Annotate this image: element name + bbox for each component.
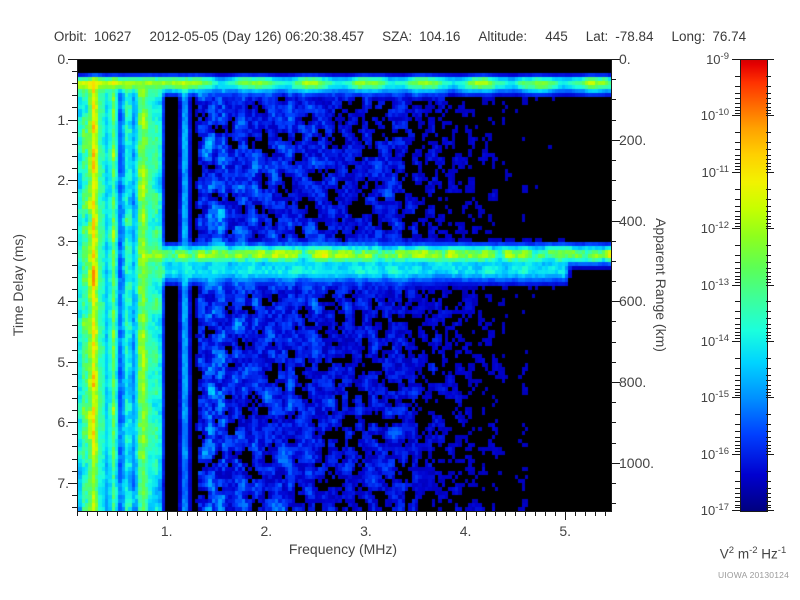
time-delay-minor-tick (72, 168, 77, 169)
colorbar-tick-exponent: -15 (715, 389, 729, 400)
time-delay-minor-tick (72, 374, 77, 375)
colorbar-minor-tick (766, 424, 771, 425)
datetime-value: 2012-05-05 (Day 126) 06:20:38.457 (149, 29, 364, 44)
colorbar-tick-mantissa: 10 (706, 52, 720, 67)
colorbar-minor-tick (735, 255, 740, 256)
time-delay-axis-title: Time Delay (ms) (10, 234, 26, 336)
colorbar-major-tick (732, 510, 740, 511)
colorbar-minor-tick (766, 493, 771, 494)
apparent-range-axis-title: Apparent Range (km) (653, 218, 669, 352)
colorbar-minor-tick (766, 189, 771, 190)
time-delay-minor-tick (72, 204, 77, 205)
colorbar-minor-tick (735, 441, 740, 442)
colorbar-minor-tick (766, 110, 771, 111)
colorbar-minor-tick (735, 451, 740, 452)
colorbar-minor-tick (766, 142, 771, 143)
sza-label: SZA: (382, 29, 412, 44)
colorbar-minor-tick (766, 392, 771, 393)
colorbar-minor-tick (766, 166, 771, 167)
colorbar-minor-tick (766, 262, 771, 263)
time-delay-tick-label: 6. (57, 414, 69, 430)
colorbar-tick-label: 10-11 (702, 164, 730, 180)
colorbar-minor-tick (735, 493, 740, 494)
frequency-minor-tick (137, 511, 138, 516)
colorbar-minor-tick (735, 149, 740, 150)
time-delay-minor-tick (72, 156, 77, 157)
colorbar-minor-tick (735, 445, 740, 446)
time-delay-minor-tick (72, 459, 77, 460)
colorbar-minor-tick (735, 324, 740, 325)
time-delay-minor-tick (72, 277, 77, 278)
colorbar-minor-tick (735, 392, 740, 393)
time-delay-minor-tick (72, 132, 77, 133)
frequency-minor-tick (207, 511, 208, 516)
colorbar-minor-tick (735, 311, 740, 312)
colorbar-minor-tick (735, 471, 740, 472)
colorbar-minor-tick (766, 132, 771, 133)
time-delay-minor-tick (72, 350, 77, 351)
colorbar-minor-tick (766, 385, 771, 386)
colorbar-minor-tick (766, 169, 771, 170)
apparent-range-minor-tick (611, 281, 616, 282)
colorbar-minor-tick (766, 328, 771, 329)
frequency-minor-tick (147, 511, 148, 516)
lat-value: -78.84 (615, 29, 653, 44)
colorbar-minor-tick (766, 431, 771, 432)
colorbar-minor-tick (735, 211, 740, 212)
frequency-minor-tick (485, 511, 486, 516)
colorbar-minor-tick (735, 375, 740, 376)
intensity-colorbar (740, 59, 768, 512)
colorbar-minor-tick (766, 389, 771, 390)
colorbar-tick-mantissa: 10 (701, 278, 715, 293)
colorbar-major-tick (732, 115, 740, 116)
colorbar-minor-tick (766, 98, 771, 99)
colorbar-minor-tick (766, 445, 771, 446)
colorbar-minor-tick (735, 332, 740, 333)
colorbar-minor-tick (735, 199, 740, 200)
time-delay-major-tick (68, 59, 77, 60)
colorbar-minor-tick (735, 505, 740, 506)
colorbar-minor-tick (766, 226, 771, 227)
apparent-range-minor-tick (611, 79, 616, 80)
colorbar-tick-label: 10-12 (701, 220, 729, 236)
colorbar-minor-tick (735, 481, 740, 482)
colorbar-minor-tick (735, 132, 740, 133)
time-delay-minor-tick (72, 229, 77, 230)
colorbar-tick-label: 10-9 (706, 51, 729, 67)
time-delay-minor-tick (72, 192, 77, 193)
frequency-minor-tick (515, 511, 516, 516)
frequency-minor-tick (77, 511, 78, 516)
frequency-minor-tick (177, 511, 178, 516)
colorbar-minor-tick (735, 216, 740, 217)
colorbar-tick-mantissa: 10 (701, 109, 715, 124)
orbit-label: Orbit: (54, 29, 87, 44)
colorbar-tick-exponent: -17 (715, 502, 729, 513)
time-delay-tick-label: 2. (57, 172, 69, 188)
colorbar-tick-label: 10-10 (701, 107, 729, 123)
colorbar-minor-tick (766, 149, 771, 150)
frequency-minor-tick (236, 511, 237, 516)
colorbar-minor-tick (766, 76, 771, 77)
time-delay-minor-tick (72, 95, 77, 96)
colorbar-minor-tick (735, 159, 740, 160)
altitude-value: 445 (545, 29, 568, 44)
frequency-minor-tick (476, 511, 477, 516)
colorbar-minor-tick (766, 103, 771, 104)
colorbar-major-tick (732, 285, 740, 286)
colorbar-minor-tick (766, 318, 771, 319)
frequency-tick-label: 1. (161, 523, 173, 539)
frequency-minor-tick (246, 511, 247, 516)
colorbar-minor-tick (735, 414, 740, 415)
colorbar-tick-exponent: -11 (716, 164, 729, 175)
frequency-major-tick (466, 511, 467, 520)
colorbar-minor-tick (766, 395, 771, 396)
colorbar-minor-tick (735, 166, 740, 167)
colorbar-unit-label: V2 m-2 Hz-1 (720, 545, 786, 562)
frequency-minor-tick (406, 511, 407, 516)
colorbar-minor-tick (735, 189, 740, 190)
colorbar-minor-tick (735, 358, 740, 359)
colorbar-minor-tick (735, 93, 740, 94)
colorbar-minor-tick (735, 142, 740, 143)
frequency-minor-tick (545, 511, 546, 516)
colorbar-major-tick (766, 228, 774, 229)
apparent-range-minor-tick (611, 483, 616, 484)
time-delay-minor-tick (72, 313, 77, 314)
colorbar-tick-label: 10-17 (701, 502, 729, 518)
frequency-minor-tick (117, 511, 118, 516)
colorbar-minor-tick (766, 437, 771, 438)
ionogram-figure: Orbit:106272012-05-05 (Day 126) 06:20:38… (0, 0, 800, 600)
frequency-minor-tick (286, 511, 287, 516)
frequency-major-tick (565, 511, 566, 520)
frequency-minor-tick (157, 511, 158, 516)
colorbar-minor-tick (766, 113, 771, 114)
colorbar-minor-tick (766, 223, 771, 224)
time-delay-minor-tick (72, 410, 77, 411)
frequency-minor-tick (555, 511, 556, 516)
colorbar-minor-tick (766, 206, 771, 207)
colorbar-minor-tick (735, 98, 740, 99)
colorbar-tick-label: 10-15 (701, 389, 729, 405)
colorbar-minor-tick (735, 437, 740, 438)
frequency-minor-tick (356, 511, 357, 516)
colorbar-tick-mantissa: 10 (701, 390, 715, 405)
colorbar-major-tick (766, 454, 774, 455)
time-delay-minor-tick (72, 265, 77, 266)
colorbar-minor-tick (735, 488, 740, 489)
colorbar-minor-tick (766, 441, 771, 442)
colorbar-tick-exponent: -12 (715, 220, 729, 231)
orbit-value: 10627 (94, 29, 132, 44)
time-delay-tick-label: 4. (57, 293, 69, 309)
time-delay-major-tick (68, 483, 77, 484)
colorbar-minor-tick (766, 199, 771, 200)
time-delay-tick-label: 1. (57, 112, 69, 128)
colorbar-major-tick (732, 59, 740, 60)
apparent-range-tick-label: 200. (619, 132, 646, 148)
long-value: 76.74 (712, 29, 746, 44)
altitude-label: Altitude: (478, 29, 527, 44)
institution-watermark: UIOWA 20130124 (718, 570, 789, 580)
colorbar-minor-tick (735, 272, 740, 273)
colorbar-minor-tick (766, 219, 771, 220)
colorbar-major-tick (732, 397, 740, 398)
time-delay-tick-label: 0. (57, 51, 69, 67)
frequency-minor-tick (107, 511, 108, 516)
time-delay-minor-tick (72, 495, 77, 496)
sza-value: 104.16 (419, 29, 460, 44)
colorbar-tick-exponent: -9 (721, 51, 729, 62)
colorbar-minor-tick (766, 282, 771, 283)
time-delay-major-tick (68, 301, 77, 302)
frequency-minor-tick (296, 511, 297, 516)
colorbar-tick-mantissa: 10 (701, 221, 715, 236)
colorbar-minor-tick (766, 375, 771, 376)
colorbar-tick-exponent: -10 (715, 107, 729, 118)
colorbar-major-tick (766, 59, 774, 60)
colorbar-minor-tick (766, 272, 771, 273)
time-delay-major-tick (68, 362, 77, 363)
colorbar-minor-tick (735, 76, 740, 77)
colorbar-minor-tick (735, 103, 740, 104)
colorbar-minor-tick (766, 107, 771, 108)
time-delay-major-tick (68, 422, 77, 423)
frequency-minor-tick (376, 511, 377, 516)
ionogram-heatmap-canvas (78, 60, 611, 511)
colorbar-major-tick (766, 397, 774, 398)
frequency-minor-tick (226, 511, 227, 516)
apparent-range-tick-label: 400. (619, 213, 646, 229)
time-delay-tick-label: 5. (57, 354, 69, 370)
colorbar-minor-tick (735, 155, 740, 156)
frequency-minor-tick (525, 511, 526, 516)
colorbar-minor-tick (766, 507, 771, 508)
frequency-minor-tick (535, 511, 536, 516)
colorbar-minor-tick (766, 245, 771, 246)
frequency-minor-tick (127, 511, 128, 516)
frequency-minor-tick (416, 511, 417, 516)
colorbar-minor-tick (766, 451, 771, 452)
apparent-range-tick-label: 800. (619, 374, 646, 390)
colorbar-minor-tick (766, 335, 771, 336)
colorbar-minor-tick (735, 385, 740, 386)
colorbar-major-tick (732, 341, 740, 342)
colorbar-minor-tick (735, 219, 740, 220)
time-delay-minor-tick (72, 434, 77, 435)
frequency-minor-tick (316, 511, 317, 516)
colorbar-minor-tick (735, 279, 740, 280)
frequency-minor-tick (446, 511, 447, 516)
colorbar-minor-tick (766, 268, 771, 269)
colorbar-minor-tick (735, 380, 740, 381)
colorbar-minor-tick (735, 497, 740, 498)
colorbar-minor-tick (766, 505, 771, 506)
colorbar-minor-tick (735, 338, 740, 339)
colorbar-minor-tick (735, 328, 740, 329)
colorbar-minor-tick (735, 389, 740, 390)
frequency-minor-tick (505, 511, 506, 516)
colorbar-minor-tick (766, 279, 771, 280)
frequency-minor-tick (97, 511, 98, 516)
time-delay-minor-tick (72, 253, 77, 254)
frequency-minor-tick (326, 511, 327, 516)
colorbar-tick-mantissa: 10 (702, 165, 716, 180)
colorbar-minor-tick (735, 507, 740, 508)
colorbar-minor-tick (766, 311, 771, 312)
time-delay-minor-tick (72, 471, 77, 472)
colorbar-minor-tick (766, 155, 771, 156)
apparent-range-minor-tick (611, 261, 616, 262)
colorbar-minor-tick (735, 110, 740, 111)
apparent-range-minor-tick (611, 200, 616, 201)
colorbar-minor-tick (735, 268, 740, 269)
colorbar-minor-tick (766, 255, 771, 256)
colorbar-tick-label: 10-13 (701, 276, 729, 292)
colorbar-minor-tick (735, 262, 740, 263)
colorbar-minor-tick (766, 380, 771, 381)
colorbar-major-tick (766, 172, 774, 173)
time-delay-tick-label: 3. (57, 233, 69, 249)
frequency-minor-tick (456, 511, 457, 516)
colorbar-minor-tick (766, 448, 771, 449)
colorbar-minor-tick (735, 335, 740, 336)
colorbar-minor-tick (766, 324, 771, 325)
time-delay-minor-tick (72, 337, 77, 338)
colorbar-tick-mantissa: 10 (701, 334, 715, 349)
frequency-minor-tick (495, 511, 496, 516)
frequency-major-tick (366, 511, 367, 520)
colorbar-minor-tick (735, 276, 740, 277)
frequency-minor-tick (436, 511, 437, 516)
time-delay-minor-tick (72, 325, 77, 326)
colorbar-minor-tick (735, 448, 740, 449)
time-delay-tick-label: 7. (57, 475, 69, 491)
colorbar-minor-tick (735, 169, 740, 170)
frequency-minor-tick (87, 511, 88, 516)
colorbar-minor-tick (766, 211, 771, 212)
colorbar-minor-tick (735, 86, 740, 87)
colorbar-tick-mantissa: 10 (701, 503, 715, 518)
apparent-range-minor-tick (611, 120, 616, 121)
time-delay-minor-tick (72, 507, 77, 508)
frequency-tick-label: 5. (559, 523, 571, 539)
colorbar-minor-tick (735, 113, 740, 114)
colorbar-minor-tick (735, 245, 740, 246)
colorbar-tick-mantissa: 10 (701, 447, 715, 462)
colorbar-minor-tick (766, 163, 771, 164)
apparent-range-minor-tick (611, 180, 616, 181)
frequency-minor-tick (336, 511, 337, 516)
colorbar-minor-tick (766, 338, 771, 339)
colorbar-minor-tick (735, 318, 740, 319)
frequency-minor-tick (605, 511, 606, 516)
colorbar-minor-tick (766, 358, 771, 359)
frequency-minor-tick (256, 511, 257, 516)
colorbar-major-tick (732, 454, 740, 455)
colorbar-minor-tick (766, 368, 771, 369)
frequency-minor-tick (216, 511, 217, 516)
frequency-minor-tick (306, 511, 307, 516)
colorbar-minor-tick (735, 226, 740, 227)
figure-header: Orbit:106272012-05-05 (Day 126) 06:20:38… (0, 29, 800, 44)
frequency-minor-tick (396, 511, 397, 516)
frequency-minor-tick (575, 511, 576, 516)
frequency-minor-tick (197, 511, 198, 516)
colorbar-minor-tick (766, 159, 771, 160)
ionogram-plot-area (77, 59, 612, 512)
time-delay-major-tick (68, 120, 77, 121)
frequency-minor-tick (346, 511, 347, 516)
apparent-range-minor-tick (611, 362, 616, 363)
colorbar-minor-tick (735, 424, 740, 425)
colorbar-minor-tick (735, 395, 740, 396)
colorbar-minor-tick (735, 431, 740, 432)
frequency-axis-title: Frequency (MHz) (289, 541, 397, 557)
frequency-minor-tick (187, 511, 188, 516)
colorbar-minor-tick (766, 216, 771, 217)
apparent-range-minor-tick (611, 422, 616, 423)
time-delay-minor-tick (72, 71, 77, 72)
colorbar-tick-exponent: -13 (715, 276, 729, 287)
lat-label: Lat: (586, 29, 609, 44)
time-delay-minor-tick (72, 83, 77, 84)
frequency-minor-tick (426, 511, 427, 516)
time-delay-minor-tick (72, 216, 77, 217)
frequency-major-tick (266, 511, 267, 520)
apparent-range-minor-tick (611, 402, 616, 403)
colorbar-tick-exponent: -14 (715, 333, 729, 344)
colorbar-minor-tick (766, 488, 771, 489)
colorbar-major-tick (766, 285, 774, 286)
frequency-minor-tick (585, 511, 586, 516)
colorbar-minor-tick (735, 206, 740, 207)
frequency-minor-tick (276, 511, 277, 516)
colorbar-tick-label: 10-16 (701, 445, 729, 461)
colorbar-minor-tick (766, 414, 771, 415)
apparent-range-minor-tick (611, 99, 616, 100)
time-delay-minor-tick (72, 107, 77, 108)
colorbar-minor-tick (735, 282, 740, 283)
colorbar-minor-tick (766, 481, 771, 482)
time-delay-major-tick (68, 241, 77, 242)
colorbar-major-tick (766, 115, 774, 116)
time-delay-major-tick (68, 180, 77, 181)
apparent-range-minor-tick (611, 443, 616, 444)
colorbar-minor-tick (735, 501, 740, 502)
colorbar-minor-tick (766, 471, 771, 472)
colorbar-minor-tick (735, 163, 740, 164)
frequency-minor-tick (595, 511, 596, 516)
colorbar-minor-tick (766, 86, 771, 87)
long-label: Long: (672, 29, 706, 44)
colorbar-tick-label: 10-14 (701, 333, 729, 349)
apparent-range-tick-label: 600. (619, 293, 646, 309)
time-delay-minor-tick (72, 289, 77, 290)
colorbar-minor-tick (766, 501, 771, 502)
apparent-range-tick-label: 1000. (619, 455, 654, 471)
colorbar-major-tick (766, 341, 774, 342)
frequency-minor-tick (386, 511, 387, 516)
frequency-tick-label: 4. (460, 523, 472, 539)
apparent-range-minor-tick (611, 160, 616, 161)
apparent-range-minor-tick (611, 241, 616, 242)
colorbar-tick-exponent: -16 (715, 445, 729, 456)
apparent-range-minor-tick (611, 342, 616, 343)
